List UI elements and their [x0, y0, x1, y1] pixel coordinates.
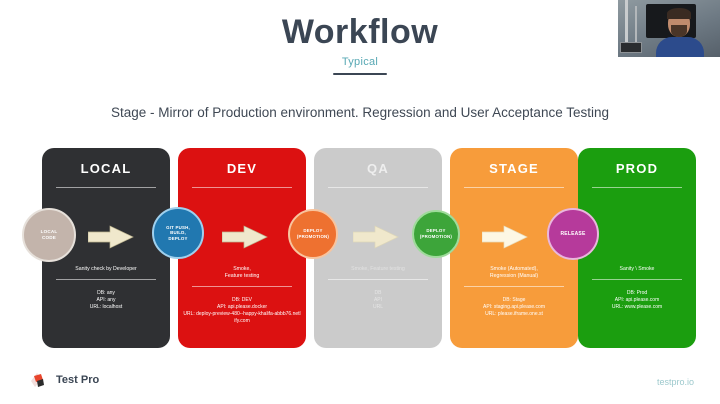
- node-deploy-promotion-1[interactable]: DEPLOY (PROMOTION): [288, 209, 338, 259]
- column-prod-testing: Sanity \ Smoke: [578, 266, 696, 273]
- node-deploy-promotion-2-label: DEPLOY (PROMOTION): [414, 228, 458, 239]
- column-prod[interactable]: PROD Sanity \ Smoke DB: Prod API: api.pl…: [578, 148, 696, 348]
- flow-arrow-icon-2: [222, 224, 268, 250]
- stage-description: Stage - Mirror of Production environment…: [0, 105, 720, 120]
- node-git-push-label: GIT PUSH, BUILD, DEPLOY: [154, 225, 202, 242]
- flow-arrow-icon-4: [482, 224, 528, 250]
- column-dev-meta: DB: DEV API: api.please.docker URL: depl…: [178, 287, 306, 325]
- node-git-push[interactable]: GIT PUSH, BUILD, DEPLOY: [152, 207, 204, 259]
- node-local-code-label: LOCAL CODE: [24, 229, 74, 241]
- column-dev-testing: Smoke, Feature testing: [178, 266, 306, 280]
- node-release-label: RELEASE: [549, 231, 597, 237]
- column-dev-header: DEV: [178, 148, 306, 176]
- column-prod-divider-bottom: [592, 279, 682, 280]
- webcam-presenter-body: [656, 37, 704, 57]
- column-stage-meta: DB: Stage API: staging.api.please.com UR…: [450, 287, 578, 318]
- webcam-presenter-hair: [667, 8, 691, 19]
- presentation-slide: Workflow Typical Stage - Mirror of Produ…: [0, 0, 720, 404]
- column-stage-divider-top: [464, 187, 564, 188]
- column-qa-divider-top: [328, 187, 428, 188]
- node-local-code[interactable]: LOCAL CODE: [22, 208, 76, 262]
- column-local-divider-top: [56, 187, 156, 188]
- column-prod-header: PROD: [578, 148, 696, 176]
- column-qa-testing: Smoke, Feature testing: [314, 266, 442, 273]
- column-prod-divider-top: [592, 187, 682, 188]
- footer-brand: Test Pro: [28, 370, 99, 390]
- webcam-presenter-beard: [671, 25, 687, 37]
- webcam-video-overlay[interactable]: [618, 0, 720, 59]
- node-deploy-promotion-1-label: DEPLOY (PROMOTION): [290, 228, 336, 239]
- column-local-divider-bottom: [56, 279, 156, 280]
- column-qa-meta: DB API URL: [314, 280, 442, 311]
- brand-name: Test Pro: [56, 374, 99, 386]
- column-stage-testing: Smoke (Automated), Regression (Manual): [450, 266, 578, 280]
- column-qa-header: QA: [314, 148, 442, 176]
- column-local-meta: DB: any API: any URL: localhost: [42, 280, 170, 311]
- test-pro-logo-icon: [28, 370, 48, 390]
- flow-arrow-icon-3: [353, 224, 399, 250]
- column-local-testing: Sanity check by Developer: [42, 266, 170, 273]
- node-release[interactable]: RELEASE: [547, 208, 599, 260]
- flow-arrow-icon-1: [88, 224, 134, 250]
- page-title: Workflow: [0, 12, 720, 52]
- column-dev-divider-top: [192, 187, 292, 188]
- column-qa-divider-bottom: [328, 279, 428, 280]
- column-prod-meta: DB: Prod API: api.please.com URL: www.pl…: [578, 280, 696, 311]
- column-stage-header: STAGE: [450, 148, 578, 176]
- footer-site-url: testpro.io: [657, 377, 694, 387]
- column-stage-divider-bottom: [464, 286, 564, 287]
- column-local-header: LOCAL: [42, 148, 170, 176]
- webcam-equipment-box: [620, 42, 642, 53]
- title-divider: [333, 73, 387, 75]
- column-dev-divider-bottom: [192, 286, 292, 287]
- page-subtitle: Typical: [0, 56, 720, 68]
- node-deploy-promotion-2[interactable]: DEPLOY (PROMOTION): [412, 210, 460, 258]
- title-block: Workflow Typical: [0, 12, 720, 75]
